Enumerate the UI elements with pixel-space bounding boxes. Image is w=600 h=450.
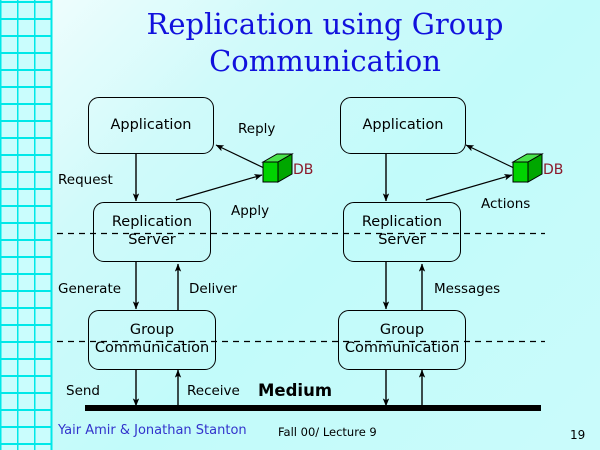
node-application-left-label: Application <box>110 117 191 135</box>
left-grid-decoration <box>0 0 53 450</box>
label-deliver: Deliver <box>189 281 237 297</box>
node-group-communication-right[interactable]: Group Communication <box>338 310 466 370</box>
node-group-communication-right-label-2: Communication <box>345 340 459 358</box>
label-medium: Medium <box>258 381 332 400</box>
label-generate: Generate <box>58 281 121 297</box>
db-left-cube-icon <box>263 154 292 182</box>
medium-bar <box>85 405 541 411</box>
footer-page-number: 19 <box>570 428 585 442</box>
label-reply: Reply <box>238 121 275 137</box>
node-replication-server-right[interactable]: Replication Server <box>343 202 461 262</box>
slide-canvas: Replication using Group Communication <box>0 0 600 450</box>
label-receive: Receive <box>187 383 240 399</box>
node-group-communication-left-label-2: Communication <box>95 340 209 358</box>
slide-title: Replication using Group Communication <box>60 6 590 80</box>
node-group-communication-left-label-1: Group <box>95 322 209 340</box>
label-db-right: DB <box>543 162 563 178</box>
node-replication-server-right-label-1: Replication <box>362 214 442 232</box>
label-db-left: DB <box>293 162 313 178</box>
node-replication-server-left-label-2: Server <box>112 232 192 250</box>
slide-title-line-2: Communication <box>60 43 590 80</box>
label-apply: Apply <box>231 203 269 219</box>
node-application-left[interactable]: Application <box>88 97 214 154</box>
footer-course: Fall 00/ Lecture 9 <box>278 425 377 439</box>
db-right-cube-icon <box>513 154 542 182</box>
label-messages: Messages <box>434 281 500 297</box>
node-replication-server-left-label-1: Replication <box>112 214 192 232</box>
node-group-communication-left[interactable]: Group Communication <box>88 310 216 370</box>
node-application-right-label: Application <box>362 117 443 135</box>
node-application-right[interactable]: Application <box>340 97 466 154</box>
node-group-communication-right-label-1: Group <box>345 322 459 340</box>
slide-title-line-1: Replication using Group <box>60 6 590 43</box>
label-actions: Actions <box>481 196 530 212</box>
label-request: Request <box>58 172 113 188</box>
node-replication-server-left[interactable]: Replication Server <box>93 202 211 262</box>
footer-authors: Yair Amir & Jonathan Stanton <box>58 423 247 438</box>
node-replication-server-right-label-2: Server <box>362 232 442 250</box>
label-send: Send <box>66 383 100 399</box>
